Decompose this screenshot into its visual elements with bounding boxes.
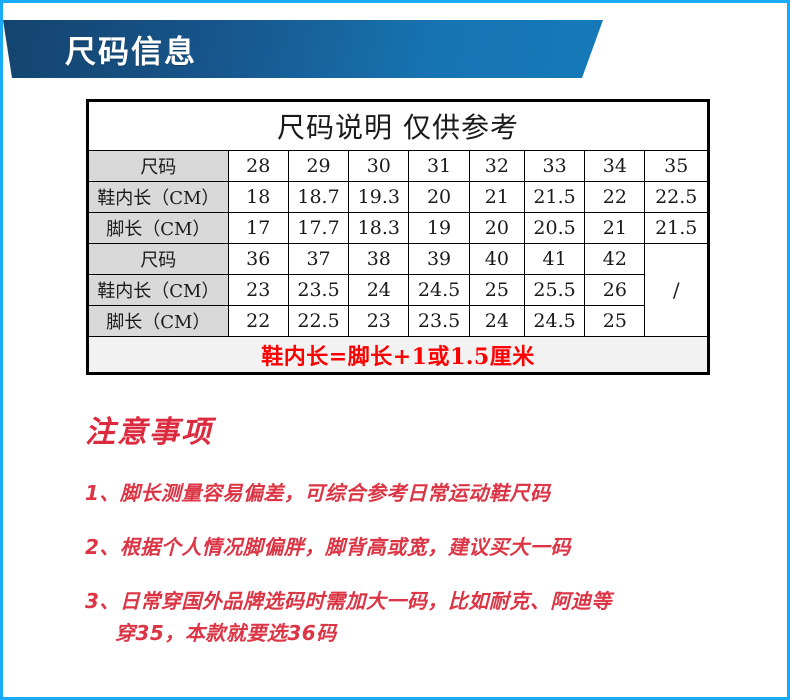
cell-foot-39: 23.5 [409,306,469,337]
row-label-footlength-2: 脚长（CM） [88,306,229,337]
note-item-3: 3、日常穿国外品牌选码时需加大一码，比如耐克、阿迪等 穿35，本款就要选36码 [85,585,725,649]
table-row: 脚长（CM） 17 17.7 18.3 19 20 20.5 21 21.5 [88,213,709,244]
table-formula-row: 鞋内长=脚长+1或1.5厘米 [88,337,709,374]
cell-foot-33: 20.5 [524,213,584,244]
cell-foot-31: 19 [409,213,469,244]
table-row: 鞋内长（CM） 23 23.5 24 24.5 25 25.5 26 [88,275,709,306]
table-row: 尺码 36 37 38 39 40 41 42 / [88,244,709,275]
cell-size-35: 35 [645,151,709,182]
note-item-2: 2、根据个人情况脚偏胖，脚背高或宽，建议买大一码 [85,531,725,563]
row-label-size-2: 尺码 [88,244,229,275]
cell-insole-35: 22.5 [645,182,709,213]
table-row: 鞋内长（CM） 18 18.7 19.3 20 21 21.5 22 22.5 [88,182,709,213]
cell-size-40: 40 [469,244,524,275]
header-banner: 尺码信息 [3,20,603,78]
cell-insole-41: 25.5 [524,275,584,306]
note-item-2-text: 2、根据个人情况脚偏胖，脚背高或宽，建议买大一码 [85,535,571,559]
cell-size-28: 28 [228,151,288,182]
cell-foot-28: 17 [228,213,288,244]
cell-foot-37: 22.5 [288,306,348,337]
cell-foot-38: 23 [349,306,409,337]
cell-insole-37: 23.5 [288,275,348,306]
cell-insole-31: 20 [409,182,469,213]
table-row: 尺码 28 29 30 31 32 33 34 35 [88,151,709,182]
page-title: 尺码信息 [65,27,197,72]
size-chart-table: 尺码说明 仅供参考 尺码 28 29 30 31 32 33 34 35 鞋内长… [86,99,710,375]
cell-insole-42: 26 [585,275,645,306]
cell-insole-38: 24 [349,275,409,306]
cell-size-30: 30 [349,151,409,182]
cell-insole-28: 18 [228,182,288,213]
cell-foot-35: 21.5 [645,213,709,244]
cell-foot-42: 25 [585,306,645,337]
cell-size-39: 39 [409,244,469,275]
cell-empty-merged: / [645,244,709,337]
cell-size-32: 32 [469,151,524,182]
cell-size-34: 34 [585,151,645,182]
cell-size-33: 33 [524,151,584,182]
cell-insole-36: 23 [228,275,288,306]
table-title-row: 尺码说明 仅供参考 [88,101,709,151]
formula-text: 鞋内长=脚长+1或1.5厘米 [88,337,709,374]
table-title: 尺码说明 仅供参考 [88,101,709,151]
cell-insole-39: 24.5 [409,275,469,306]
cell-foot-30: 18.3 [349,213,409,244]
cell-insole-40: 25 [469,275,524,306]
cell-insole-29: 18.7 [288,182,348,213]
row-label-insole-1: 鞋内长（CM） [88,182,229,213]
row-label-insole-2: 鞋内长（CM） [88,275,229,306]
cell-foot-36: 22 [228,306,288,337]
cell-insole-33: 21.5 [524,182,584,213]
cell-size-38: 38 [349,244,409,275]
cell-size-31: 31 [409,151,469,182]
cell-size-42: 42 [585,244,645,275]
cell-insole-30: 19.3 [349,182,409,213]
note-item-1: 1、脚长测量容易偏差，可综合参考日常运动鞋尺码 [85,477,725,509]
cell-insole-32: 21 [469,182,524,213]
cell-foot-40: 24 [469,306,524,337]
row-label-footlength-1: 脚长（CM） [88,213,229,244]
size-chart-page: 尺码信息 尺码说明 仅供参考 尺码 28 29 30 31 32 33 34 3… [0,0,790,700]
table-row: 脚长（CM） 22 22.5 23 23.5 24 24.5 25 [88,306,709,337]
cell-size-29: 29 [288,151,348,182]
note-item-3-continuation: 穿35，本款就要选36码 [85,617,725,649]
cell-size-36: 36 [228,244,288,275]
note-item-3-text: 3、日常穿国外品牌选码时需加大一码，比如耐克、阿迪等 [85,589,612,613]
notes-heading: 注意事项 [85,407,725,451]
cell-size-37: 37 [288,244,348,275]
cell-foot-32: 20 [469,213,524,244]
row-label-size-1: 尺码 [88,151,229,182]
cell-size-41: 41 [524,244,584,275]
cell-foot-41: 24.5 [524,306,584,337]
cell-foot-29: 17.7 [288,213,348,244]
notes-section: 注意事项 1、脚长测量容易偏差，可综合参考日常运动鞋尺码 2、根据个人情况脚偏胖… [85,407,725,671]
cell-insole-34: 22 [585,182,645,213]
note-item-1-text: 1、脚长测量容易偏差，可综合参考日常运动鞋尺码 [85,481,550,505]
cell-foot-34: 21 [585,213,645,244]
